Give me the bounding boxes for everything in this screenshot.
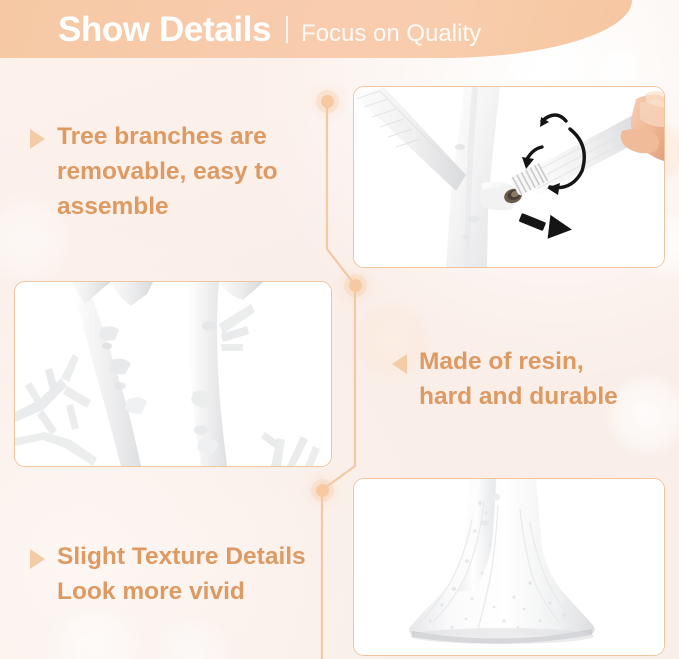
feature-label: Tree branches are removable, easy to ass… (57, 120, 278, 224)
connector-node-top (321, 95, 334, 108)
panel-branch-texture: Close-up of white textured resin tree br… (14, 281, 332, 467)
title-divider (286, 16, 288, 43)
feature-resin-material: Made of resin, hard and durable (392, 345, 662, 415)
feature-label: Made of resin, hard and durable (419, 345, 618, 415)
resin-base-photo (354, 479, 664, 655)
triangle-left-icon (392, 354, 407, 374)
branch-assembly-photo (354, 87, 664, 267)
feature-texture-details: Slight Texture Details Look more vivid (30, 540, 330, 610)
feature-removable-branches: Tree branches are removable, easy to ass… (30, 120, 330, 224)
page-subtitle: Focus on Quality (301, 22, 481, 46)
connector-node-middle (349, 279, 362, 292)
triangle-right-icon (30, 129, 45, 149)
page-title: Show Details (58, 12, 271, 47)
connector-node-bottom (316, 484, 329, 497)
triangle-right-icon (30, 549, 45, 569)
branch-texture-photo (15, 282, 331, 466)
feature-label: Slight Texture Details Look more vivid (57, 540, 306, 610)
header-banner: Show Details Focus on Quality (0, 0, 632, 58)
infographic-page: Show Details Focus on Quality Tree branc… (0, 0, 679, 659)
panel-branch-assembly: Hand screwing a white resin branch with … (353, 86, 665, 268)
panel-resin-base: Close-up of the flared white textured re… (353, 478, 665, 656)
